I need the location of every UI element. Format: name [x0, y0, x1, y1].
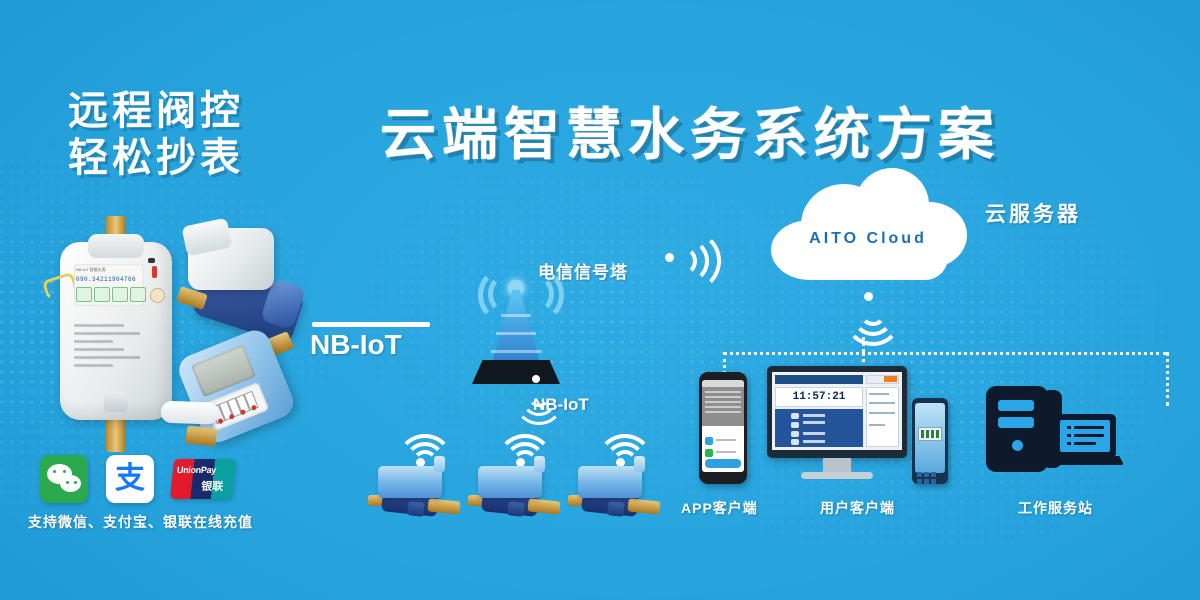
wechat-pay-logo	[40, 455, 88, 503]
cloud-label: AITO Cloud	[763, 230, 973, 248]
endpoint-label-user: 用户客户端	[820, 498, 895, 518]
poster-canvas: 远程阀控 轻松抄表 云端智慧水务系统方案 AITO Cloud 云服务器 电信信…	[0, 0, 1200, 600]
telecom-tower-icon	[466, 268, 566, 386]
handheld-reader-device	[912, 398, 948, 484]
unionpay-cn-label: 银联	[200, 478, 224, 494]
product-meter-large: NB-IoT 智能水表 090.34211904766	[60, 232, 172, 432]
field-meter-1	[368, 462, 464, 524]
distribution-bus	[723, 352, 1167, 355]
nbiot-primary-label: NB-IoT	[310, 329, 402, 361]
field-meter-3	[568, 462, 664, 524]
nbiot-underline	[312, 322, 430, 327]
slogan-line-1: 远程阀控	[68, 88, 358, 135]
branch-line-station	[1166, 352, 1169, 406]
workstation-server-icon	[984, 386, 1116, 484]
cloud-icon: AITO Cloud	[763, 168, 973, 280]
slogan: 远程阀控 轻松抄表	[68, 88, 358, 182]
cloud-drop-line	[862, 330, 865, 352]
desktop-monitor-user-client: 11:57:21	[767, 366, 907, 484]
unionpay-logo: UnionPay 银联	[170, 459, 236, 499]
meter-caption: NB-IoT 智能水表	[76, 267, 106, 273]
payment-logos: 支 UnionPay 银联	[40, 455, 234, 503]
cloud-server-label: 云服务器	[985, 198, 1081, 228]
field-meter-2	[468, 462, 564, 524]
slogan-line-2: 轻松抄表	[68, 135, 358, 182]
payment-caption: 支持微信、支付宝、银联在线充值	[28, 512, 253, 532]
nbiot-wifi-icon	[510, 375, 562, 415]
meter-reading: 090.34211904766	[76, 276, 136, 283]
alipay-glyph: 支	[115, 464, 145, 494]
alipay-logo: 支	[106, 455, 154, 503]
endpoint-label-station: 工作服务站	[1018, 498, 1093, 518]
signal-wave-icon	[655, 228, 725, 288]
unionpay-wordmark: UnionPay	[176, 465, 216, 475]
monitor-clock: 11:57:21	[775, 388, 863, 406]
telecom-tower-label: 电信信号塔	[538, 258, 628, 283]
page-title: 云端智慧水务系统方案	[380, 90, 1000, 171]
cloud-downlink-wifi-icon	[840, 292, 898, 340]
smartphone-app-client	[699, 372, 747, 484]
endpoint-label-app: APP客户端	[681, 498, 758, 518]
